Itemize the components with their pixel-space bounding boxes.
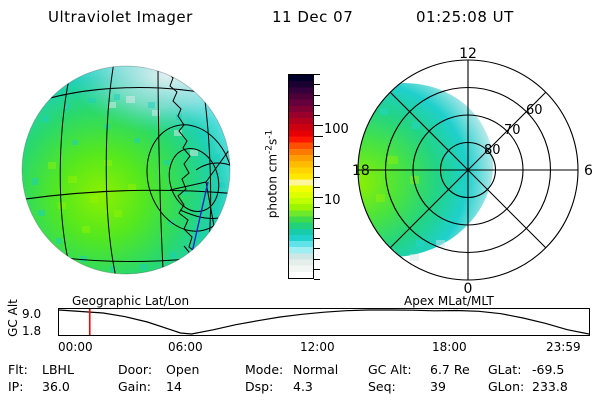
status-value: Open [166,362,199,377]
colorbar-tick-100: 100 [324,123,349,136]
observation-time: 01:25:08 UT [416,8,514,26]
colorbar-unit-mid: s [266,139,280,145]
status-value: 36.0 [42,379,70,394]
polar-dial: 12 6 0 18 80 70 60 [352,44,600,296]
aurora-emission [22,54,232,274]
instrument-title: Ultraviolet Imager [48,8,193,26]
apex-polar-panel: 12 6 0 18 80 70 60 [352,44,600,296]
status-value: 6.7 Re [430,362,470,377]
status-value: LBHL [42,362,74,377]
observation-date: 11 Dec 07 [272,8,353,26]
colorbar-unit-exp1: -2 [265,145,275,154]
svg-text:80: 80 [484,143,501,158]
status-key: GLat: [488,362,521,377]
strip-xtick: 18:00 [432,340,467,354]
orbit-altitude-chart: GC Alt 9.0 1.8 Geographic Lat/Lon Apex M… [0,296,600,358]
strip-ytick-min: 1.8 [22,325,41,337]
colorbar: 10010 photon cm-2s-1 [276,70,352,285]
svg-text:6: 6 [584,163,593,179]
altitude-trace [59,309,589,335]
status-key: GC Alt: [368,362,412,377]
status-key: IP: [8,379,23,394]
geographic-caption: Geographic Lat/Lon [72,294,189,308]
status-key: Seq: [368,379,396,394]
colorbar-tick-10: 10 [324,194,341,207]
strip-ylabel: GC Alt [2,298,24,338]
apex-caption: Apex MLat/MLT [404,294,494,308]
colorbar-unit-main: photon cm [266,154,280,218]
strip-xtick: 00:00 [58,340,93,354]
status-value: -69.5 [532,362,564,377]
dial-spokes [358,60,578,280]
geographic-panel [18,50,268,290]
status-key: Mode: [245,362,283,377]
colorbar-gradient [288,74,314,279]
status-panel: Flt:LBHLDoor:OpenMode:NormalGC Alt:6.7 R… [0,362,600,400]
strip-xtick: 06:00 [168,340,203,354]
status-value: Normal [293,362,338,377]
uvi-display: Ultraviolet Imager 11 Dec 07 01:25:08 UT [0,0,600,400]
status-key: GLon: [488,379,524,394]
status-key: Door: [118,362,152,377]
status-value: 233.8 [532,379,568,394]
svg-text:60: 60 [526,103,543,118]
dial-mlat-labels: 80 70 60 [484,103,543,158]
svg-text:18: 18 [352,163,370,179]
header-bar: Ultraviolet Imager 11 Dec 07 01:25:08 UT [0,8,600,30]
status-value: 4.3 [293,379,313,394]
status-key: Gain: [118,379,151,394]
status-key: Dsp: [245,379,273,394]
strip-xtick: 23:59 [546,340,581,354]
status-value: 14 [166,379,182,394]
strip-plot-area [58,308,590,336]
colorbar-axis-label: photon cm-2s-1 [265,130,280,219]
colorbar-unit-exp2: -1 [265,130,275,139]
svg-text:12: 12 [459,46,477,62]
status-value: 39 [430,379,446,394]
strip-ytick-max: 9.0 [22,308,41,320]
svg-text:70: 70 [504,123,521,138]
colorbar-ticks [314,74,320,279]
status-key: Flt: [8,362,28,377]
geographic-image [18,50,268,290]
strip-xtick: 12:00 [300,340,335,354]
